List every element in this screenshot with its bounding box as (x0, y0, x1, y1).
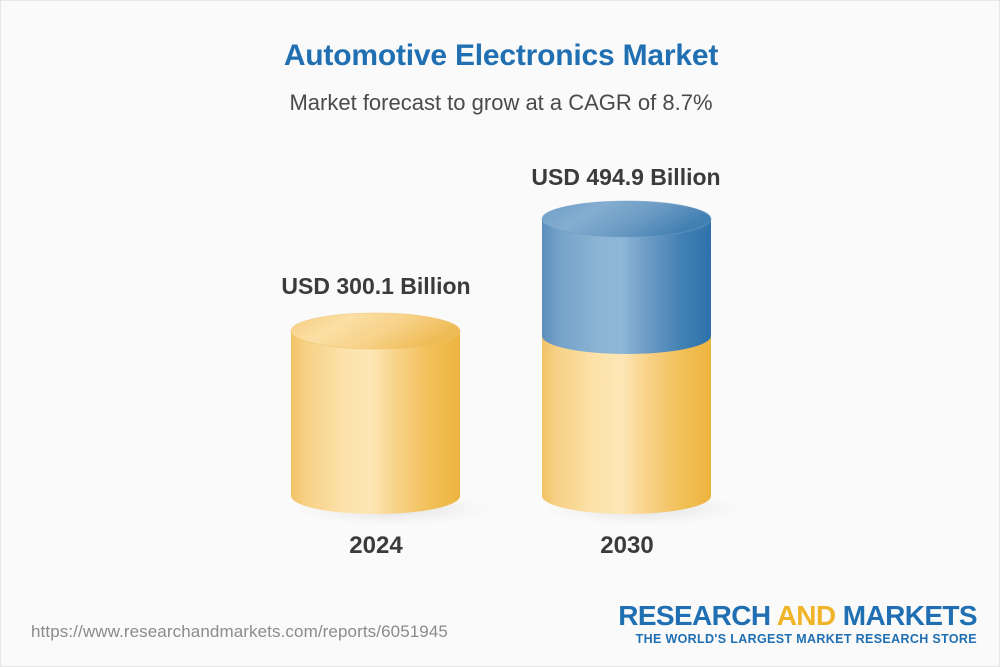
category-label-2030: 2030 (542, 532, 712, 560)
chart-canvas: Automotive Electronics Market Market for… (0, 0, 1000, 667)
logo-wordmark: RESEARCH AND MARKETS (618, 601, 977, 630)
category-label-2024: 2024 (291, 532, 461, 560)
bar-cylinder-2030-blue-segment (542, 201, 711, 354)
value-label-2024: USD 300.1 Billion (261, 273, 491, 300)
logo-word-research: RESEARCH (618, 600, 770, 631)
value-label-2030: USD 494.9 Billion (511, 164, 741, 191)
logo-tagline: THE WORLD'S LARGEST MARKET RESEARCH STOR… (618, 632, 977, 646)
logo-word-markets: MARKETS (843, 600, 977, 631)
bar-shadow-2030 (543, 492, 743, 526)
bar-shadow-2024 (293, 492, 493, 526)
bar-cylinder-2030-gold-segment (542, 336, 711, 514)
bar-cylinder-2024 (291, 313, 460, 514)
logo-word-and: AND (777, 600, 836, 631)
source-url[interactable]: https://www.researchandmarkets.com/repor… (31, 622, 448, 642)
chart-subtitle: Market forecast to grow at a CAGR of 8.7… (1, 90, 1000, 116)
chart-title: Automotive Electronics Market (1, 39, 1000, 73)
research-and-markets-logo[interactable]: RESEARCH AND MARKETS THE WORLD'S LARGEST… (618, 601, 977, 646)
